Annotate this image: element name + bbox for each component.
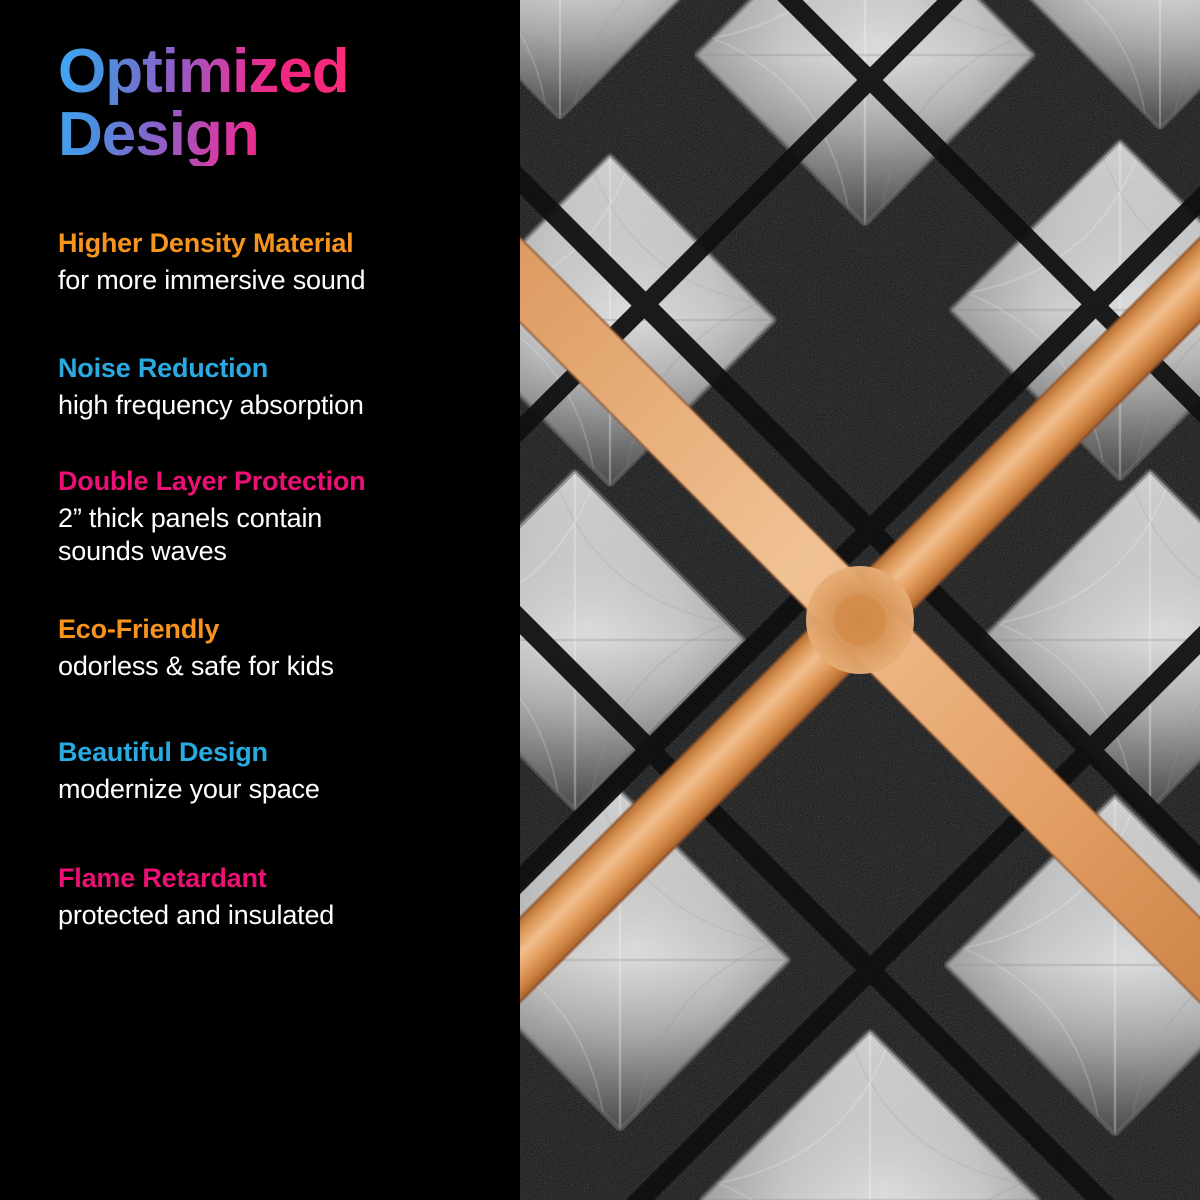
headline: OptimizedDesign [58, 40, 349, 166]
feature-item-beautiful-design: Beautiful Design modernize your space [58, 737, 480, 806]
feature-item-noise-reduction: Noise Reduction high frequency absorptio… [58, 353, 480, 422]
feature-item-flame-retardant: Flame Retardant protected and insulated [58, 863, 480, 932]
feature-title: Higher Density Material [58, 228, 480, 259]
feature-title: Beautiful Design [58, 737, 480, 768]
feature-subtitle: modernize your space [58, 773, 480, 806]
headline-line-2: Design [58, 103, 349, 166]
feature-subtitle: high frequency absorption [58, 389, 480, 422]
feature-list: Higher Density Material for more immersi… [58, 228, 480, 931]
feature-subtitle: for more immersive sound [58, 264, 480, 297]
feature-title: Double Layer Protection [58, 466, 480, 497]
acoustic-foam-panels-photo [520, 0, 1200, 1200]
feature-title: Eco-Friendly [58, 614, 480, 645]
headline-line-1: Optimized [58, 37, 349, 106]
feature-title: Noise Reduction [58, 353, 480, 384]
feature-item-higher-density-material: Higher Density Material for more immersi… [58, 228, 480, 297]
feature-title: Flame Retardant [58, 863, 480, 894]
feature-subtitle: odorless & safe for kids [58, 650, 480, 683]
product-feature-graphic: OptimizedDesign Higher Density Material … [0, 0, 1200, 1200]
page-title: OptimizedDesign [58, 40, 480, 166]
feature-item-eco-friendly: Eco-Friendly odorless & safe for kids [58, 614, 480, 683]
feature-subtitle: 2” thick panels contain sounds waves [58, 502, 480, 568]
feature-subtitle: protected and insulated [58, 899, 480, 932]
feature-item-double-layer-protection: Double Layer Protection 2” thick panels … [58, 466, 480, 568]
text-panel: OptimizedDesign Higher Density Material … [0, 0, 520, 1200]
